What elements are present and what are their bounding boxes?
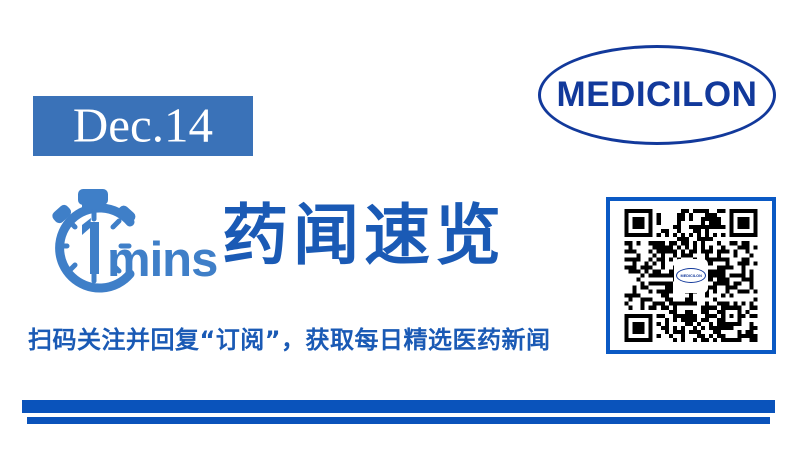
mins-label: mins [107, 232, 217, 288]
page-title: 药闻速览 [222, 203, 506, 269]
qr-logo-ellipse: MEDICILON [676, 268, 706, 283]
date-badge-label: Dec.14 [33, 96, 253, 153]
medicilon-logo: MEDICILON [538, 45, 776, 145]
qr-center-logo: MEDICILON [674, 259, 708, 293]
footer-rule-thick [22, 400, 775, 413]
logo-wordmark: MEDICILON [538, 75, 776, 115]
date-badge: Dec.14 [33, 96, 253, 156]
newsletter-banner: MEDICILON Dec.14 [0, 0, 800, 468]
footer-rule-thin [27, 417, 770, 424]
qr-code-matrix: MEDICILON [620, 209, 762, 342]
qr-code[interactable]: MEDICILON [606, 197, 776, 354]
subtitle-cta: 扫码关注并回复“订阅”，获取每日精选医药新闻 [28, 326, 551, 355]
qr-logo-wordmark: MEDICILON [680, 273, 701, 278]
